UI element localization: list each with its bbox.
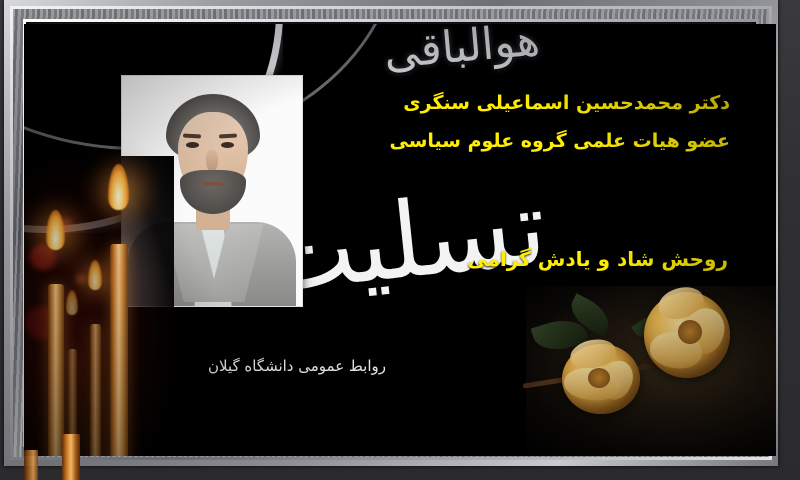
candles-decoration [24,156,174,456]
portrait-eye-left [186,142,199,148]
memorial-poster: هوالباقی تسلیت دکتر محمدحسین اسماعیلی سن… [0,0,800,480]
deceased-name: دکتر محمدحسین اسماعیلی سنگری [370,84,730,122]
tribute-line: روحش شاد و یادش گرامی [368,242,728,276]
taslit-watermark-calligraphy: تسلیت [289,151,553,326]
candle-overlapping-frame [62,434,80,480]
portrait-eyebrow-left [183,134,201,139]
poster-canvas: هوالباقی تسلیت دکتر محمدحسین اسماعیلی سن… [24,24,776,456]
candle-overlapping-frame-small [24,450,38,480]
hoval-baghi-calligraphy: هوالباقی [388,24,543,86]
portrait-nose [206,150,218,172]
rose-core [678,320,702,344]
deceased-text-block: دکتر محمدحسین اسماعیلی سنگری عضو هیات عل… [370,84,730,160]
roses-decoration [526,286,776,456]
candle-flame-icon [66,290,78,315]
deceased-title: عضو هیات علمی گروه علوم سیاسی [370,122,730,160]
candle-stick [48,284,64,456]
portrait-mouth [202,182,224,186]
candle-stick [90,324,101,456]
tribute-text-block: روحش شاد و یادش گرامی [368,242,728,276]
portrait-eye-right [221,142,234,148]
rose-core [588,368,610,388]
